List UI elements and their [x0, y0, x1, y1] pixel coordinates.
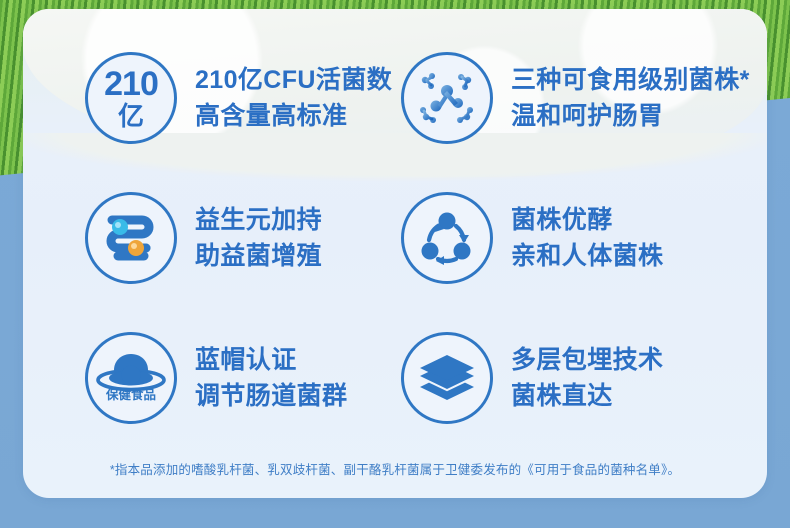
- feature-line-1: 多层包埋技术: [511, 342, 663, 378]
- feature-item-multilayer: 多层包埋技术 菌株直达: [401, 332, 663, 424]
- feature-line-2: 菌株直达: [511, 378, 663, 414]
- intestine-prebiotic-icon: [85, 192, 177, 284]
- feature-line-2: 助益菌增殖: [195, 238, 322, 274]
- feature-text: 210亿CFU活菌数 高含量高标准: [195, 62, 392, 134]
- feature-item-strains: 三种可食用级别菌株* 温和呵护肠胃: [401, 52, 750, 144]
- feature-text: 蓝帽认证 调节肠道菌群: [195, 342, 347, 414]
- feature-text: 三种可食用级别菌株* 温和呵护肠胃: [511, 62, 750, 134]
- blue-hat-health-food-icon: 保健食品: [85, 332, 177, 424]
- bacteria-molecule-glyph: [414, 65, 480, 131]
- feature-line-1: 蓝帽认证: [195, 342, 347, 378]
- feature-item-cfu-count: 210 亿 210亿CFU活菌数 高含量高标准: [85, 52, 392, 144]
- intestine-glyph: [98, 208, 164, 268]
- feature-line-1: 益生元加持: [195, 202, 322, 238]
- feature-text: 菌株优酵 亲和人体菌株: [511, 202, 663, 274]
- feature-line-1: 210亿CFU活菌数: [195, 62, 392, 98]
- feature-card: 210 亿 210亿CFU活菌数 高含量高标准: [23, 9, 767, 498]
- bacteria-molecule-icon: [401, 52, 493, 144]
- footnote: *指本品添加的嗜酸乳杆菌、乳双歧杆菌、副干酪乳杆菌属于卫健委发布的《可用于食品的…: [23, 461, 767, 479]
- count-badge-210-icon: 210 亿: [85, 52, 177, 144]
- feature-line-2: 亲和人体菌株: [511, 238, 663, 274]
- feature-text: 益生元加持 助益菌增殖: [195, 202, 322, 274]
- fermentation-cycle-icon: [401, 192, 493, 284]
- feature-line-2: 高含量高标准: [195, 98, 392, 134]
- feature-line-1: 三种可食用级别菌株*: [511, 62, 750, 98]
- badge-unit: 亿: [118, 103, 144, 129]
- badge-big-number: 210: [104, 67, 158, 101]
- feature-item-fermentation: 菌株优酵 亲和人体菌株: [401, 192, 663, 284]
- promo-infographic: 210 亿 210亿CFU活菌数 高含量高标准: [0, 0, 790, 528]
- feature-item-blue-hat: 保健食品 蓝帽认证 调节肠道菌群: [85, 332, 347, 424]
- blue-hat-glyph: 保健食品: [94, 345, 168, 411]
- feature-line-2: 调节肠道菌群: [195, 378, 347, 414]
- feature-item-prebiotic: 益生元加持 助益菌增殖: [85, 192, 322, 284]
- feature-text: 多层包埋技术 菌株直达: [511, 342, 663, 414]
- feature-line-1: 菌株优酵: [511, 202, 663, 238]
- feature-line-2: 温和呵护肠胃: [511, 98, 750, 134]
- blue-hat-label: 保健食品: [105, 387, 156, 402]
- multilayer-coating-icon: [401, 332, 493, 424]
- feature-grid: 210 亿 210亿CFU活菌数 高含量高标准: [23, 9, 767, 498]
- layers-glyph: [416, 349, 478, 407]
- cycle-arrows-glyph: [416, 207, 478, 269]
